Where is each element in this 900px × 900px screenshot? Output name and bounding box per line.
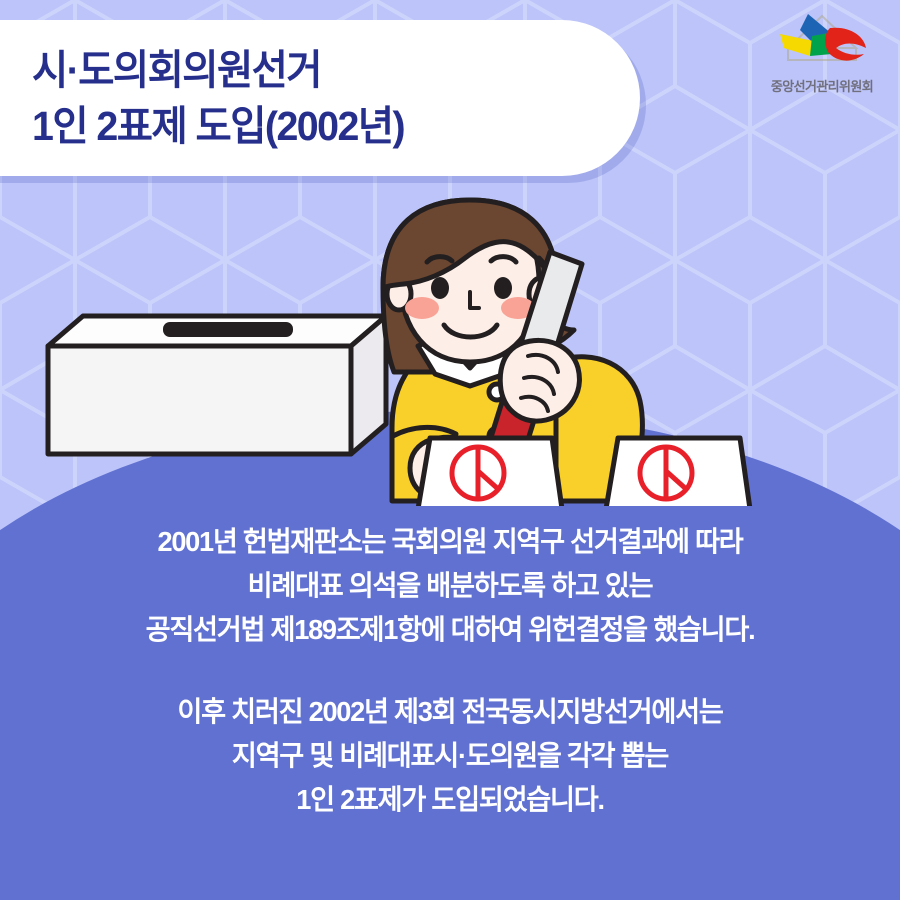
nec-logo: 중앙선거관리위원회 bbox=[752, 8, 892, 95]
infographic-card: 시·도의회의원선거 1인 2표제 도입(2002년) 중앙선거관리위원회 200… bbox=[0, 0, 900, 900]
paragraph-2-line-3: 1인 2표제가 도입되었습니다. bbox=[14, 778, 887, 822]
paragraph-1: 2001년 헌법재판소는 국회의원 지역구 선거결과에 따라 비례대표 의석을 … bbox=[0, 520, 900, 652]
ballot-box bbox=[48, 316, 386, 454]
title-line-2: 1인 2표제 도입(2002년) bbox=[32, 98, 579, 154]
paragraph-1-line-2: 비례대표 의석을 배분하도록 하고 있는 bbox=[14, 564, 887, 608]
paragraph-1-line-1: 2001년 헌법재판소는 국회의원 지역구 선거결과에 따라 bbox=[14, 520, 887, 564]
body-copy: 2001년 헌법재판소는 국회의원 지역구 선거결과에 따라 비례대표 의석을 … bbox=[0, 520, 900, 822]
title-card: 시·도의회의원선거 1인 2표제 도입(2002년) bbox=[0, 20, 640, 176]
title-line-1: 시·도의회의원선거 bbox=[32, 42, 579, 98]
ballot-paper-2 bbox=[606, 438, 750, 506]
page-title: 시·도의회의원선거 1인 2표제 도입(2002년) bbox=[32, 42, 602, 154]
voting-illustration bbox=[0, 196, 900, 506]
nec-logo-label: 중앙선거관리위원회 bbox=[752, 76, 892, 95]
paragraph-2-line-1: 이후 치러진 2002년 제3회 전국동시지방선거에서는 bbox=[14, 690, 887, 734]
paragraph-2: 이후 치러진 2002년 제3회 전국동시지방선거에서는 지역구 및 비례대표시… bbox=[0, 690, 900, 822]
paragraph-1-line-3: 공직선거법 제189조제1항에 대하여 위헌결정을 했습니다. bbox=[14, 608, 887, 652]
nec-bird-emblem bbox=[774, 8, 870, 74]
ballot-paper-1 bbox=[418, 438, 562, 506]
paragraph-2-line-2: 지역구 및 비례대표시·도의원을 각각 뽑는 bbox=[14, 734, 887, 778]
